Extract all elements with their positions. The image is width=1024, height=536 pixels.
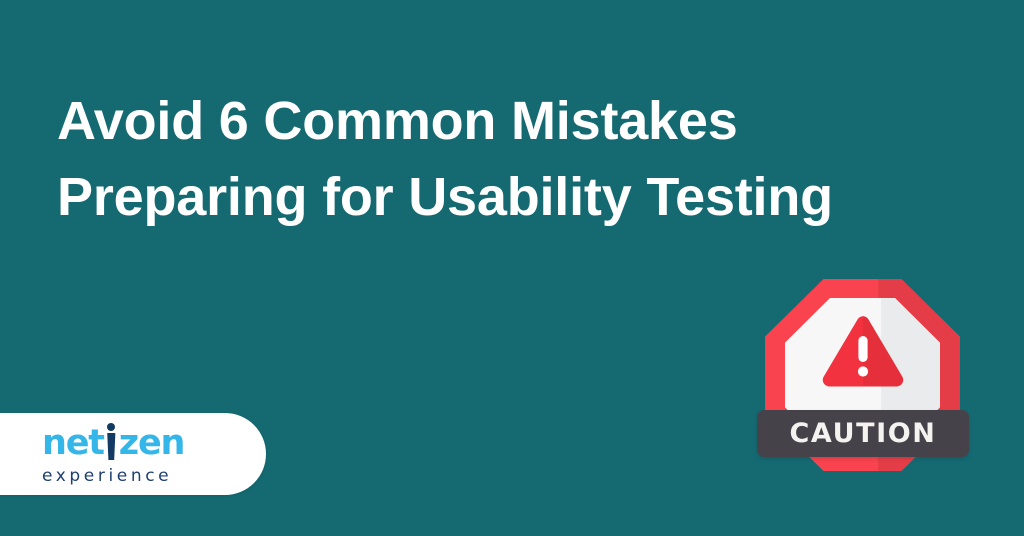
brand-wordmark-suffix: zen xyxy=(119,425,184,461)
caution-sign-illustration: CAUTION xyxy=(758,272,966,480)
headline-line-1: Avoid 6 Common Mistakes xyxy=(57,83,917,159)
brand-logo: netzen experience xyxy=(0,413,266,495)
brand-wordmark-prefix: net xyxy=(42,425,104,461)
person-head-shape xyxy=(107,423,115,431)
person-body-shape xyxy=(105,433,117,460)
person-figure-icon xyxy=(104,425,119,461)
caution-label: CAUTION xyxy=(757,419,969,448)
brand-tagline: experience xyxy=(42,466,232,486)
warning-triangle-icon xyxy=(820,314,906,390)
brand-wordmark: netzen xyxy=(42,425,232,461)
brand-logo-inner: netzen experience xyxy=(42,425,232,485)
page-title: Avoid 6 Common Mistakes Preparing for Us… xyxy=(57,83,917,235)
caution-ribbon: CAUTION xyxy=(757,410,969,457)
promo-banner: Avoid 6 Common Mistakes Preparing for Us… xyxy=(0,0,1024,536)
headline-line-2: Preparing for Usability Testing xyxy=(57,159,917,235)
